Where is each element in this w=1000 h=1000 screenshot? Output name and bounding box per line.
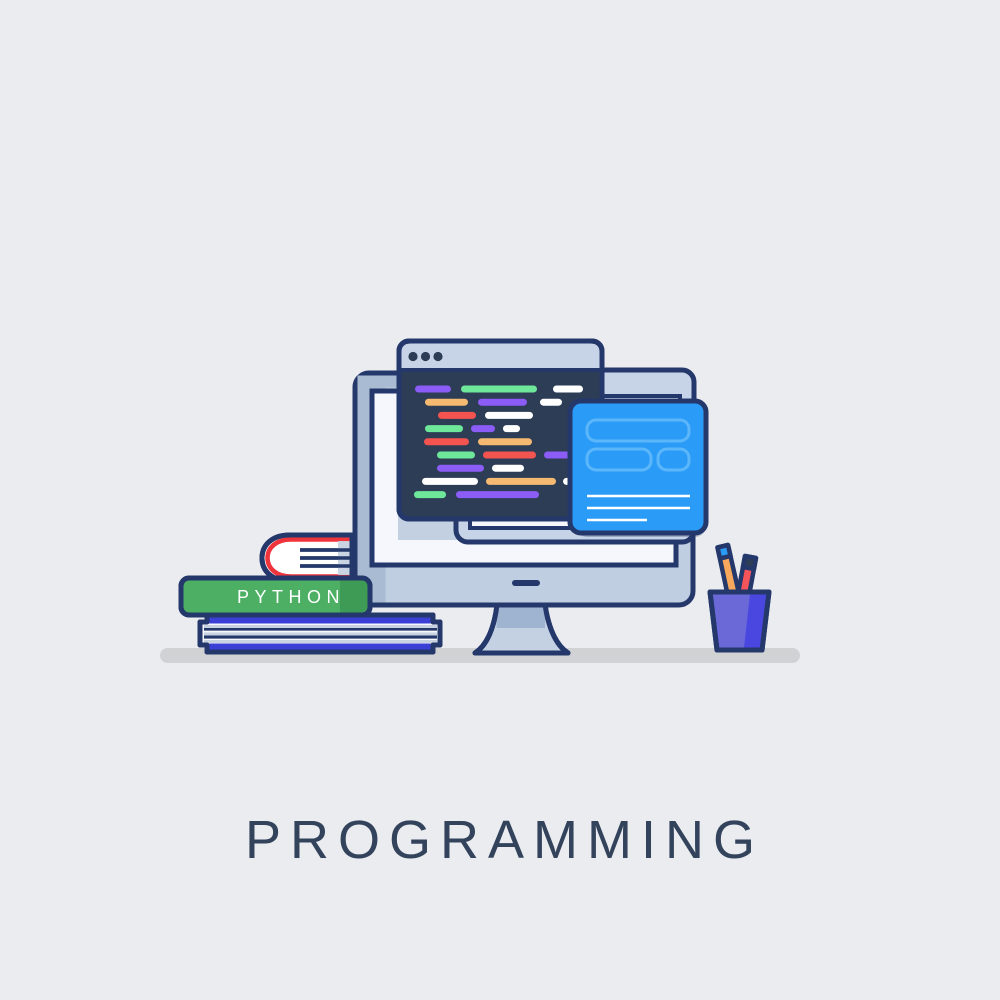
blue-book-page-tint-3	[204, 640, 437, 643]
code-token	[492, 465, 524, 472]
code-token	[486, 478, 556, 485]
code-token	[424, 438, 469, 445]
code-token	[437, 465, 484, 472]
window-dot-3-icon	[433, 352, 442, 361]
code-token	[485, 412, 533, 419]
pencil-cup	[710, 545, 769, 650]
orange-pencil-tip	[718, 545, 731, 559]
code-token	[425, 399, 468, 406]
code-token	[425, 425, 463, 432]
illustration-scene: PYTHON	[0, 0, 1000, 1000]
python-book: PYTHON	[181, 578, 370, 615]
page-title: PROGRAMMING	[0, 800, 1000, 880]
blue-book-bottom-band	[210, 644, 431, 650]
bezel-notch	[512, 580, 540, 586]
code-token	[438, 412, 476, 419]
blue-book-page-tint-1	[204, 625, 437, 628]
code-token	[483, 452, 536, 459]
code-token	[540, 399, 562, 406]
python-book-label: PYTHON	[237, 587, 345, 607]
red-book	[262, 535, 352, 581]
window-dot-2-icon	[421, 352, 430, 361]
code-token	[414, 491, 446, 498]
blue-book-page-tint-2	[204, 633, 437, 636]
ui-mockup-card	[570, 401, 706, 537]
code-token	[553, 386, 583, 393]
code-token	[422, 478, 478, 485]
blue-book	[200, 615, 440, 652]
blue-book-top-band	[210, 618, 431, 624]
code-token	[415, 386, 451, 393]
code-token	[456, 491, 539, 498]
code-window-titlebar	[402, 344, 600, 371]
code-token	[471, 425, 495, 432]
code-token	[437, 452, 475, 459]
code-token	[503, 425, 520, 432]
code-token	[478, 438, 532, 445]
window-dot-1-icon	[408, 352, 417, 361]
code-token	[461, 386, 537, 393]
red-pencil-tip	[743, 556, 756, 569]
code-token	[478, 399, 527, 406]
